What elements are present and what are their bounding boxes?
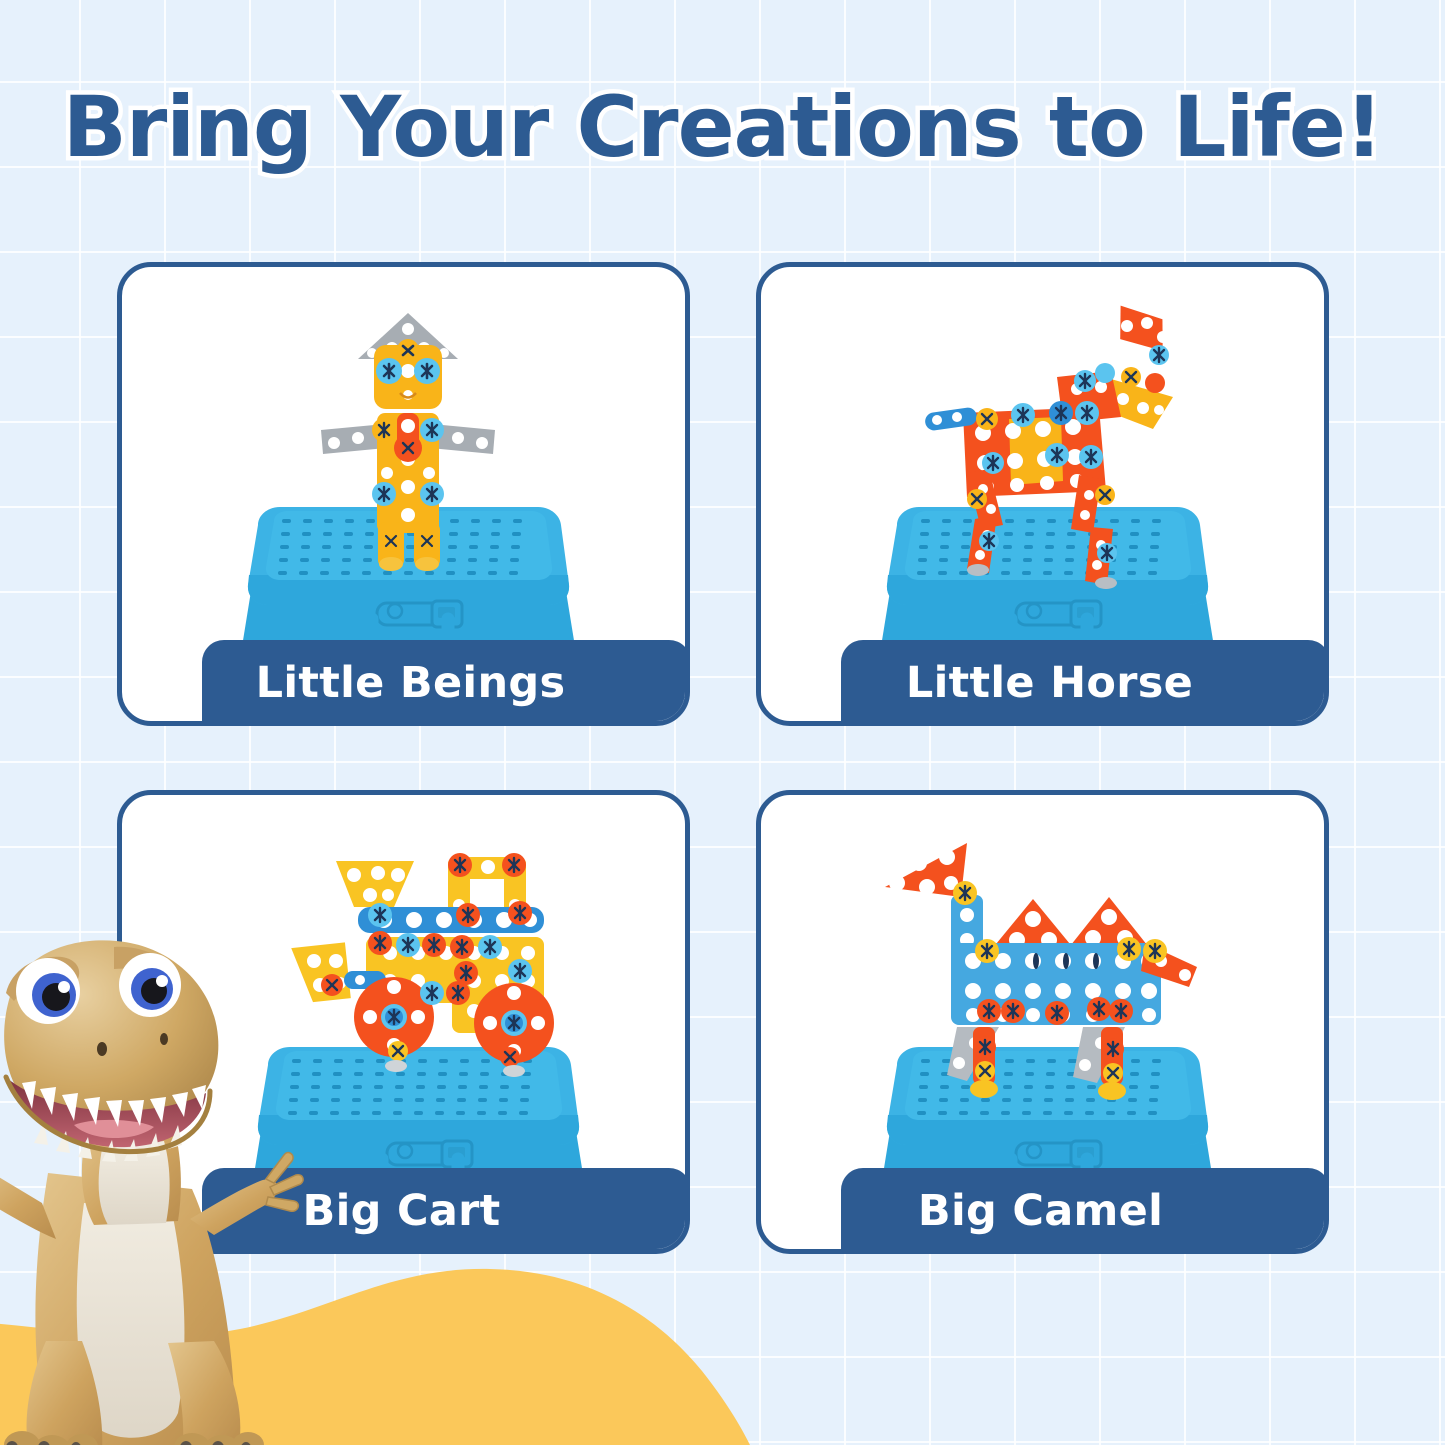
card-label-banner: Big Cart	[202, 1168, 690, 1254]
card-label-text: Little Beings	[256, 658, 638, 708]
creation-card-little-horse[interactable]: Little Horse	[756, 262, 1329, 726]
card-label-text: Little Horse	[906, 658, 1265, 708]
card-label-text: Big Camel	[918, 1186, 1253, 1236]
creation-card-big-camel[interactable]: Big Camel	[756, 790, 1329, 1254]
creations-card-grid: Little Beings	[117, 262, 1329, 1254]
creation-card-big-cart[interactable]: Big Cart	[117, 790, 690, 1254]
page-title: Bring Your Creations to Life!	[0, 78, 1445, 176]
big-cart-build	[291, 853, 554, 1077]
card-label-banner: Big Camel	[841, 1168, 1329, 1254]
card-label-text: Big Cart	[303, 1186, 591, 1236]
card-label-banner: Little Horse	[841, 640, 1329, 726]
creation-card-little-beings[interactable]: Little Beings	[117, 262, 690, 726]
card-label-banner: Little Beings	[202, 640, 690, 726]
